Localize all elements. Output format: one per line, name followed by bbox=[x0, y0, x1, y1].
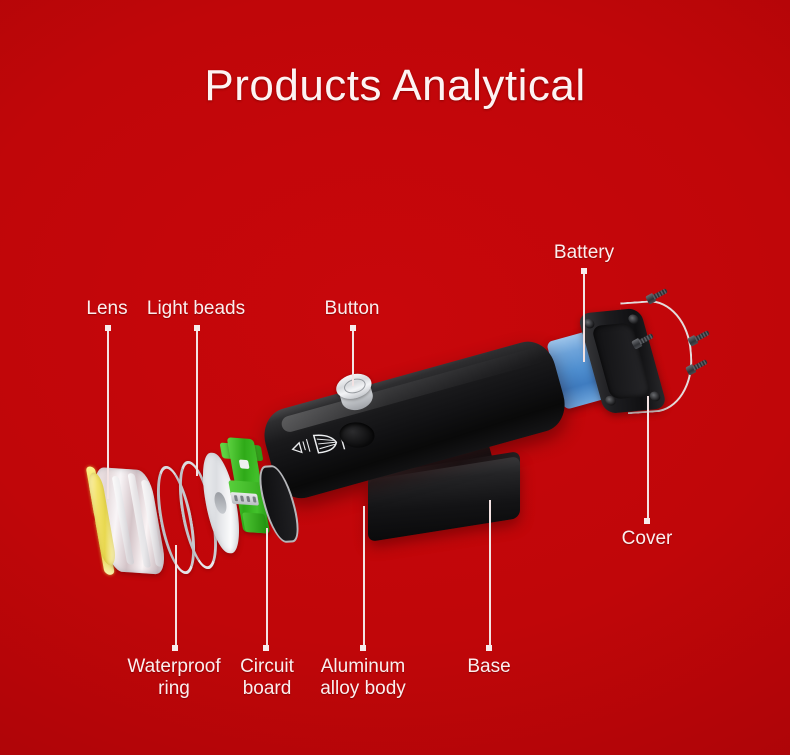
aluminum-alloy-body bbox=[262, 318, 622, 548]
callout-label-waterproof: Waterproof ring bbox=[113, 656, 235, 700]
leader-cap-base bbox=[486, 645, 492, 651]
leader-line-light-beads bbox=[196, 331, 198, 476]
leader-cap-circuit bbox=[263, 645, 269, 651]
leader-line-base bbox=[489, 500, 491, 645]
callout-label-base: Base bbox=[439, 656, 539, 678]
callout-label-battery: Battery bbox=[534, 242, 634, 264]
callout-label-cover: Cover bbox=[597, 528, 697, 550]
leader-line-battery bbox=[583, 274, 585, 362]
body-housing bbox=[258, 336, 572, 505]
screw-shaft bbox=[694, 330, 710, 341]
product-analysis-diagram: Products Analytical bbox=[0, 0, 790, 755]
leader-line-lens bbox=[107, 331, 109, 499]
pcb-pin bbox=[240, 496, 244, 502]
screw bbox=[687, 328, 711, 346]
leader-line-button bbox=[352, 331, 354, 386]
leader-cap-cover bbox=[644, 518, 650, 524]
callout-label-button: Button bbox=[302, 298, 402, 320]
pcb-pin bbox=[246, 496, 250, 502]
leader-line-cover bbox=[647, 396, 649, 518]
pcb-connector bbox=[230, 492, 259, 506]
leader-line-waterproof bbox=[175, 545, 177, 645]
leader-cap-alloy-body bbox=[360, 645, 366, 651]
screw-shaft bbox=[692, 359, 708, 370]
callout-label-circuit: Circuit board bbox=[226, 656, 308, 700]
pcb-led bbox=[239, 459, 250, 469]
callout-label-light-beads: Light beads bbox=[126, 298, 266, 320]
reflector-aperture bbox=[213, 492, 228, 514]
callout-label-alloy-body: Aluminum alloy body bbox=[303, 656, 423, 700]
exploded-view-illustration bbox=[0, 0, 790, 755]
screw-shaft bbox=[652, 288, 668, 299]
pcb-pin bbox=[234, 495, 238, 501]
leader-line-circuit bbox=[266, 528, 268, 645]
leader-line-alloy-body bbox=[363, 506, 365, 645]
pcb-pin bbox=[252, 496, 256, 502]
leader-cap-waterproof bbox=[172, 645, 178, 651]
